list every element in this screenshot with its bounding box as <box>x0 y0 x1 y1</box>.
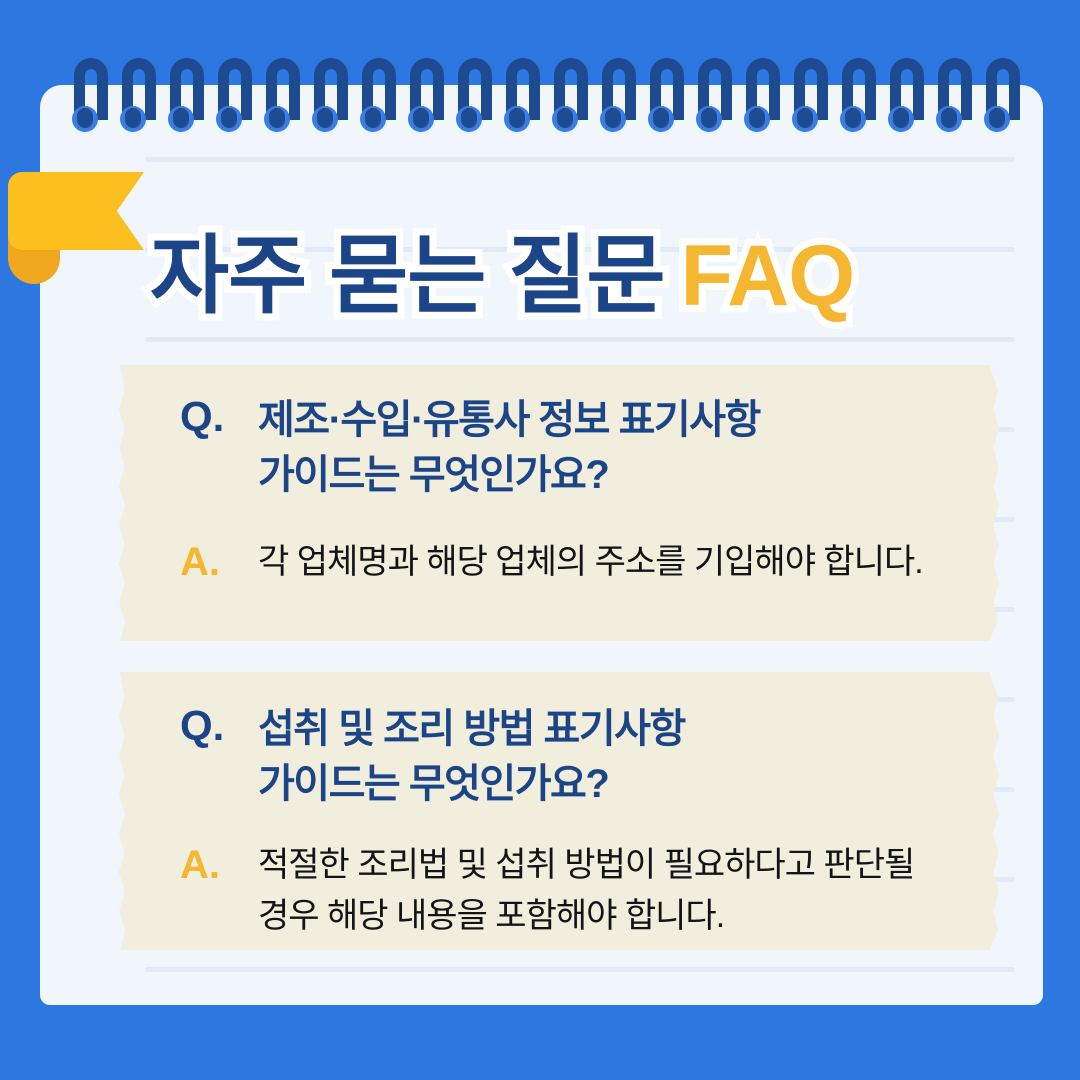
ruled-line <box>145 157 1015 162</box>
answer-text: 적절한 조리법 및 섭취 방법이 필요하다고 판단될 경우 해당 내용을 포함해… <box>258 840 914 942</box>
faq-card: 자주 묻는 질문 FAQ Q. 제조·수입·유통사 정보 표기사항 가이드는 무… <box>0 0 1080 1080</box>
answer-text: 각 업체명과 해당 업체의 주소를 기입해야 합니다. <box>258 537 923 588</box>
question-marker: Q. <box>180 393 258 441</box>
question-text: 섭취 및 조리 방법 표기사항 가이드는 무엇인가요? <box>258 702 685 812</box>
answer-row: A. 각 업체명과 해당 업체의 주소를 기입해야 합니다. <box>180 537 923 588</box>
ribbon-flag <box>8 172 144 250</box>
question-row: Q. 제조·수입·유통사 정보 표기사항 가이드는 무엇인가요? <box>180 393 760 503</box>
ruled-line <box>145 337 1015 342</box>
faq-item: Q. 제조·수입·유통사 정보 표기사항 가이드는 무엇인가요? A. 각 업체… <box>128 365 990 641</box>
faq-item: Q. 섭취 및 조리 방법 표기사항 가이드는 무엇인가요? A. 적절한 조리… <box>128 672 990 950</box>
page-title-korean: 자주 묻는 질문 <box>150 233 665 319</box>
answer-row: A. 적절한 조리법 및 섭취 방법이 필요하다고 판단될 경우 해당 내용을 … <box>180 840 914 942</box>
question-marker: Q. <box>180 702 258 750</box>
ruled-line <box>145 967 1015 972</box>
page-title: 자주 묻는 질문 FAQ <box>150 222 950 330</box>
question-row: Q. 섭취 및 조리 방법 표기사항 가이드는 무엇인가요? <box>180 702 685 812</box>
answer-marker: A. <box>180 537 258 585</box>
page-title-english: FAQ <box>681 233 855 319</box>
bookmark-ribbon-icon <box>8 172 144 250</box>
answer-marker: A. <box>180 840 258 888</box>
question-text: 제조·수입·유통사 정보 표기사항 가이드는 무엇인가요? <box>258 393 760 503</box>
